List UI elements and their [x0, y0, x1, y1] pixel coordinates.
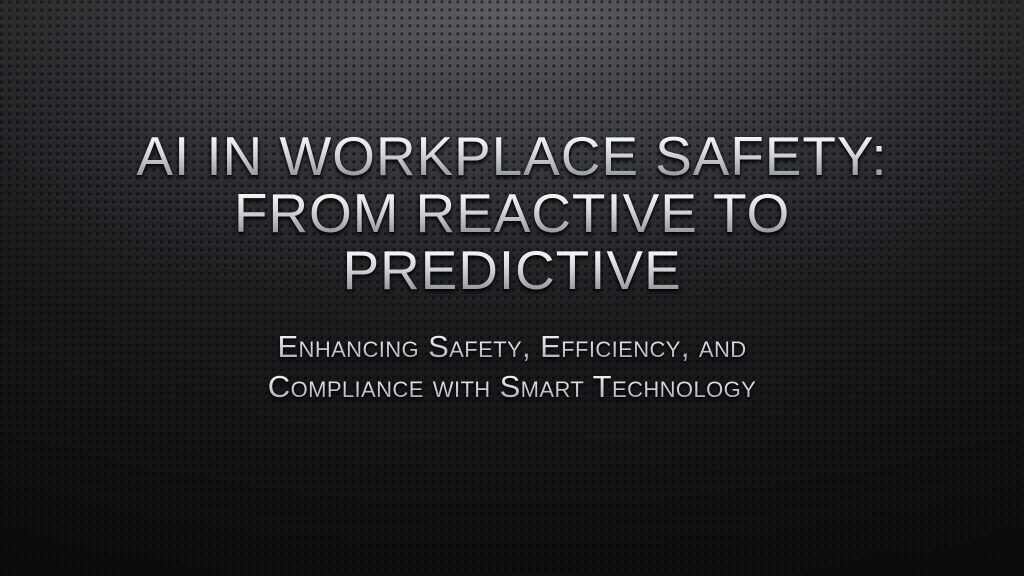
slide-subtitle: Enhancing Safety, Efficiency, and Compli…	[0, 327, 1024, 407]
slide-title-line-2: From Reactive to	[0, 185, 1024, 242]
slide-title: AI in Workplace Safety: From Reactive to…	[0, 128, 1024, 299]
slide-subtitle-line-1: Enhancing Safety, Efficiency, and	[0, 327, 1024, 367]
slide-title-line-1: AI in Workplace Safety:	[0, 128, 1024, 185]
slide-title-line-3: Predictive	[0, 242, 1024, 299]
presentation-slide: AI in Workplace Safety: From Reactive to…	[0, 0, 1024, 576]
slide-subtitle-line-2: Compliance with Smart Technology	[0, 367, 1024, 407]
slide-content: AI in Workplace Safety: From Reactive to…	[0, 0, 1024, 576]
